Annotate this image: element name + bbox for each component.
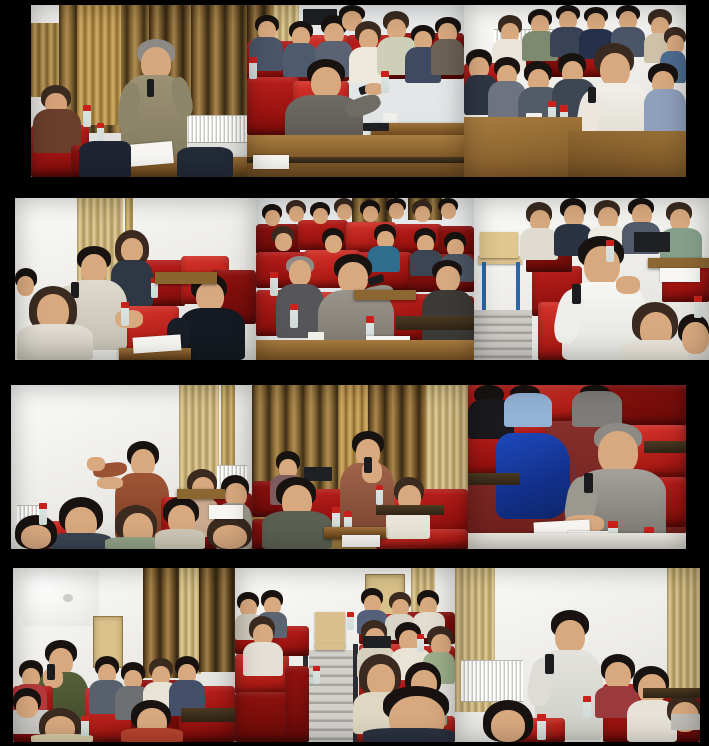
photo-r3c2-scene [252, 385, 468, 549]
photo-r2c3-scene [474, 198, 709, 360]
photo-r1c1[interactable] [31, 5, 247, 177]
photo-r3c1-scene [11, 385, 252, 549]
photo-r3c2[interactable] [252, 385, 468, 549]
photo-r3c1[interactable] [11, 385, 252, 549]
photo-row-4 [13, 568, 700, 742]
photo-r1c1-scene [31, 5, 247, 177]
photo-r3c3-scene [468, 385, 686, 549]
photo-r4c3[interactable] [455, 568, 700, 742]
photo-r1c3[interactable] [464, 5, 686, 177]
photo-r2c2-scene [256, 198, 474, 360]
photo-r2c2[interactable] [256, 198, 474, 360]
photo-r4c2[interactable] [235, 568, 455, 742]
photo-r3c3[interactable] [468, 385, 686, 549]
photo-r1c2-scene [247, 5, 464, 177]
photo-r4c3-scene [455, 568, 700, 742]
photo-r2c3[interactable] [474, 198, 709, 360]
photo-row-2 [15, 198, 709, 360]
photo-r4c1-scene [13, 568, 235, 742]
photo-r1c3-scene [464, 5, 686, 177]
photo-r1c2[interactable] [247, 5, 464, 177]
photo-r2c1[interactable] [15, 198, 256, 360]
photo-r4c1[interactable] [13, 568, 235, 742]
photo-r2c1-scene [15, 198, 256, 360]
photo-collage [0, 0, 709, 746]
ceiling-camera [63, 594, 73, 602]
photo-r4c2-scene [235, 568, 455, 742]
photo-row-1 [31, 5, 686, 177]
photo-row-3 [11, 385, 686, 549]
